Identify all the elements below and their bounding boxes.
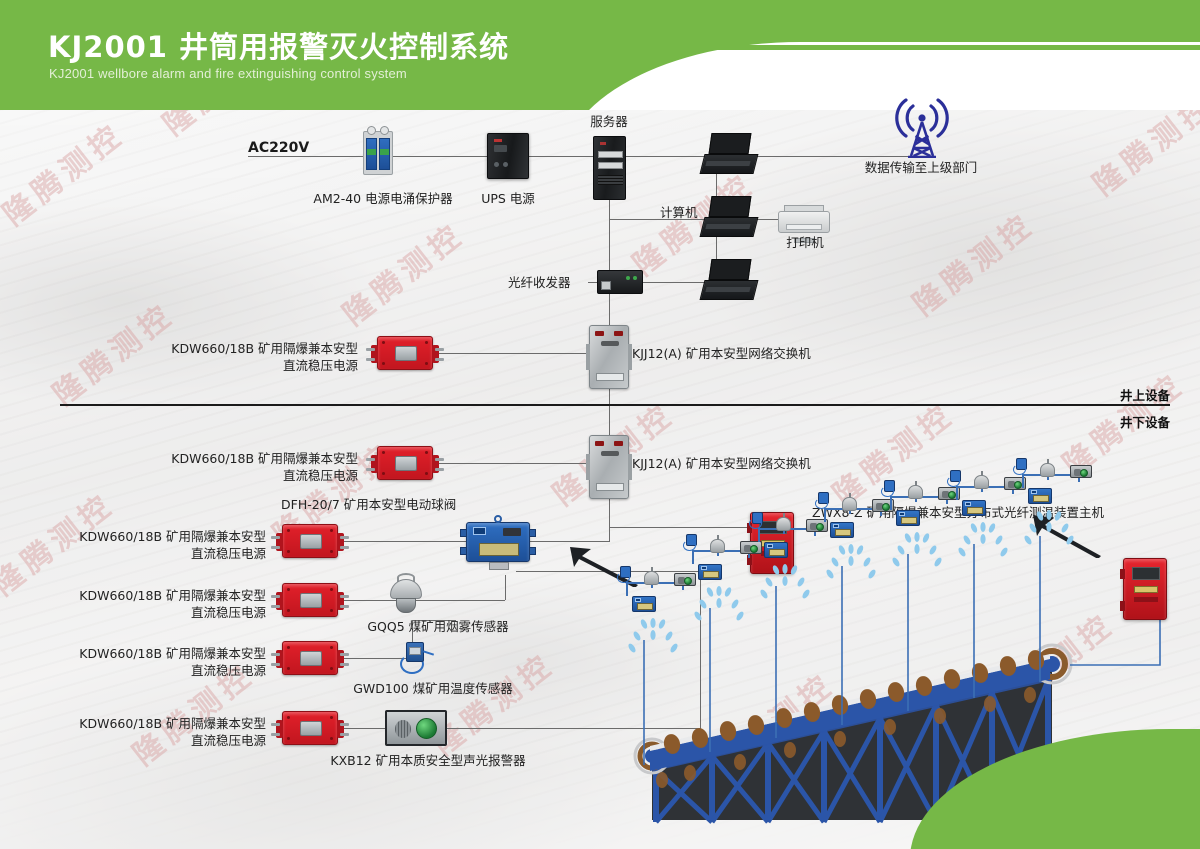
- node-smoke-sensor-icon: [974, 475, 989, 489]
- ups-device: [487, 133, 529, 179]
- node-ball-valve-icon: [962, 500, 986, 516]
- node-temp-sensor-icon: [818, 492, 829, 504]
- sprinkler-station: [1014, 488, 1038, 504]
- temperature-sensor-label: GWD100 煤矿用温度传感器: [338, 680, 528, 697]
- page-title-en: KJ2001 wellbore alarm and fire extinguis…: [49, 66, 407, 81]
- power-supply-ug-2: [282, 524, 338, 558]
- connector-switch-to-dts: [609, 527, 754, 528]
- computer-label: 计算机: [660, 204, 698, 221]
- switch-icon: [589, 325, 629, 389]
- water-spray-icon: [694, 582, 744, 629]
- power-supply-ug-2-label-1: KDW660/18B 矿用隔爆兼本安型: [36, 528, 266, 545]
- power-supply-icon: [377, 336, 433, 370]
- node-smoke-sensor-icon: [1040, 463, 1055, 477]
- sprinkler-station: [816, 522, 840, 538]
- temperature-sensor-device: [396, 638, 436, 678]
- antenna-tower-icon: [893, 96, 951, 163]
- server-icon: [593, 136, 626, 200]
- power-supply-icon: [282, 583, 338, 617]
- water-spray-icon: [760, 560, 810, 607]
- power-supply-ug-1: [377, 446, 433, 480]
- power-supply-surface-label-1: KDW660/18B 矿用隔爆兼本安型: [128, 340, 358, 357]
- node-ball-valve-icon: [1028, 488, 1052, 504]
- water-spray-icon: [826, 540, 876, 587]
- smoke-sensor-device: [386, 573, 426, 617]
- power-supply-surface: [377, 336, 433, 370]
- smoke-sensor-label: GQQ5 煤矿用烟雾传感器: [348, 618, 528, 635]
- computer-3: [700, 259, 756, 305]
- dts-host-icon: [1123, 558, 1167, 620]
- audible-alarm-device: [385, 710, 447, 746]
- divider-label-below: 井下设备: [1120, 412, 1170, 431]
- ups-icon: [487, 133, 529, 179]
- power-supply-ug-5-label-2: 直流稳压电源: [36, 732, 266, 749]
- sprinkler-station: [948, 500, 972, 516]
- smoke-sensor-icon: [386, 573, 426, 617]
- node-smoke-sensor-icon: [776, 517, 791, 531]
- computer-2: [700, 196, 756, 242]
- connector-smoke-bus: [505, 575, 506, 600]
- connector-psu-ug-to-switch: [432, 463, 592, 464]
- power-supply-ug-4-label-2: 直流稳压电源: [36, 662, 266, 679]
- computer-icon: [700, 259, 756, 305]
- node-alarm-icon: [1070, 465, 1092, 478]
- sprinkler-station: [750, 542, 774, 558]
- sprinkler-station: [618, 596, 642, 612]
- node-smoke-sensor-icon: [908, 485, 923, 499]
- computer-icon: [700, 196, 756, 242]
- power-supply-ug-3-label-2: 直流稳压电源: [36, 604, 266, 621]
- switch-surface-label: KJJ12(A) 矿用本安型网络交换机: [632, 345, 811, 362]
- node-temp-sensor-icon: [686, 534, 697, 546]
- node-ball-valve-icon: [632, 596, 656, 612]
- node-smoke-sensor-icon: [710, 539, 725, 553]
- connector-psu-surface-to-switch: [432, 353, 592, 354]
- switch-icon: [589, 435, 629, 499]
- connector-psu6-to-alarm: [340, 728, 385, 729]
- ball-valve-label: DFH-20/7 矿用本安型电动球阀: [281, 496, 456, 513]
- node-ball-valve-icon: [698, 564, 722, 580]
- power-supply-ug-4-label-1: KDW660/18B 矿用隔爆兼本安型: [36, 645, 266, 662]
- switch-underground-label: KJJ12(A) 矿用本安型网络交换机: [632, 455, 811, 472]
- printer-label: 打印机: [770, 234, 840, 251]
- ups-label: UPS 电源: [458, 190, 558, 207]
- fiber-converter-icon: [597, 270, 643, 294]
- power-supply-icon: [282, 524, 338, 558]
- node-ball-valve-icon: [764, 542, 788, 558]
- power-supply-ug-5: [282, 711, 338, 745]
- fiber-converter-device: [597, 270, 643, 294]
- connector-psu3-to-valve: [340, 541, 470, 542]
- node-ball-valve-icon: [896, 510, 920, 526]
- network-switch-surface: [589, 325, 629, 389]
- surface-underground-divider: [60, 404, 1170, 406]
- sprinkler-station: [882, 510, 906, 526]
- header-accent-line: [640, 45, 1200, 50]
- header-curve-decoration: [560, 42, 1200, 110]
- ball-valve-icon: [466, 522, 530, 562]
- power-supply-ug-1-label-2: 直流稳压电源: [128, 467, 358, 484]
- power-supply-ug-3: [282, 583, 338, 617]
- alarm-icon: [385, 710, 447, 746]
- water-spray-icon: [958, 518, 1008, 565]
- power-supply-ug-1-label-1: KDW660/18B 矿用隔爆兼本安型: [128, 450, 358, 467]
- server-label: 服务器: [569, 113, 649, 130]
- node-temp-sensor-icon: [1016, 458, 1027, 470]
- node-temp-sensor-icon: [620, 566, 631, 578]
- water-spray-icon: [892, 528, 942, 575]
- uplink-label: 数据传输至上级部门: [855, 159, 987, 176]
- fiber-converter-label: 光纤收发器: [508, 274, 571, 291]
- connector-switch-to-valve-h: [528, 541, 610, 542]
- spd-label: AM2-40 电源电涌保护器: [303, 190, 463, 207]
- power-supply-ug-4: [282, 641, 338, 675]
- sprinkler-station: [684, 564, 708, 580]
- power-supply-ug-3-label-1: KDW660/18B 矿用隔爆兼本安型: [36, 587, 266, 604]
- computer-icon: [700, 133, 756, 179]
- water-spray-icon: [628, 614, 678, 661]
- ball-valve-device: [466, 522, 530, 562]
- power-supply-icon: [377, 446, 433, 480]
- power-supply-surface-label-2: 直流稳压电源: [128, 357, 358, 374]
- node-temp-sensor-icon: [950, 470, 961, 482]
- server-device: [593, 136, 626, 200]
- surge-protector-device: [363, 131, 393, 175]
- node-ball-valve-icon: [830, 522, 854, 538]
- alarm-label: KXB12 矿用本质安全型声光报警器: [318, 752, 538, 769]
- node-smoke-sensor-icon: [644, 571, 659, 585]
- field-dts-device: [1123, 558, 1167, 620]
- spd-icon: [363, 131, 393, 175]
- diagram-page: 隆腾测控 隆腾测控 隆腾测控 隆腾测控 隆腾测控 隆腾测控 隆腾测控 隆腾测控 …: [0, 0, 1200, 849]
- ac-power-label: AC220V: [248, 140, 309, 157]
- computer-1: [700, 133, 756, 179]
- node-smoke-sensor-icon: [842, 497, 857, 511]
- temperature-sensor-icon: [396, 638, 436, 678]
- page-title-cn: KJ2001 井筒用报警灭火控制系统: [48, 24, 509, 66]
- power-supply-ug-2-label-2: 直流稳压电源: [36, 545, 266, 562]
- network-switch-underground: [589, 435, 629, 499]
- power-supply-icon: [282, 711, 338, 745]
- node-temp-sensor-icon: [752, 512, 763, 524]
- node-temp-sensor-icon: [884, 480, 895, 492]
- power-supply-icon: [282, 641, 338, 675]
- water-spray-icon: [1024, 506, 1074, 553]
- power-supply-ug-5-label-1: KDW660/18B 矿用隔爆兼本安型: [36, 715, 266, 732]
- divider-label-above: 井上设备: [1120, 385, 1170, 404]
